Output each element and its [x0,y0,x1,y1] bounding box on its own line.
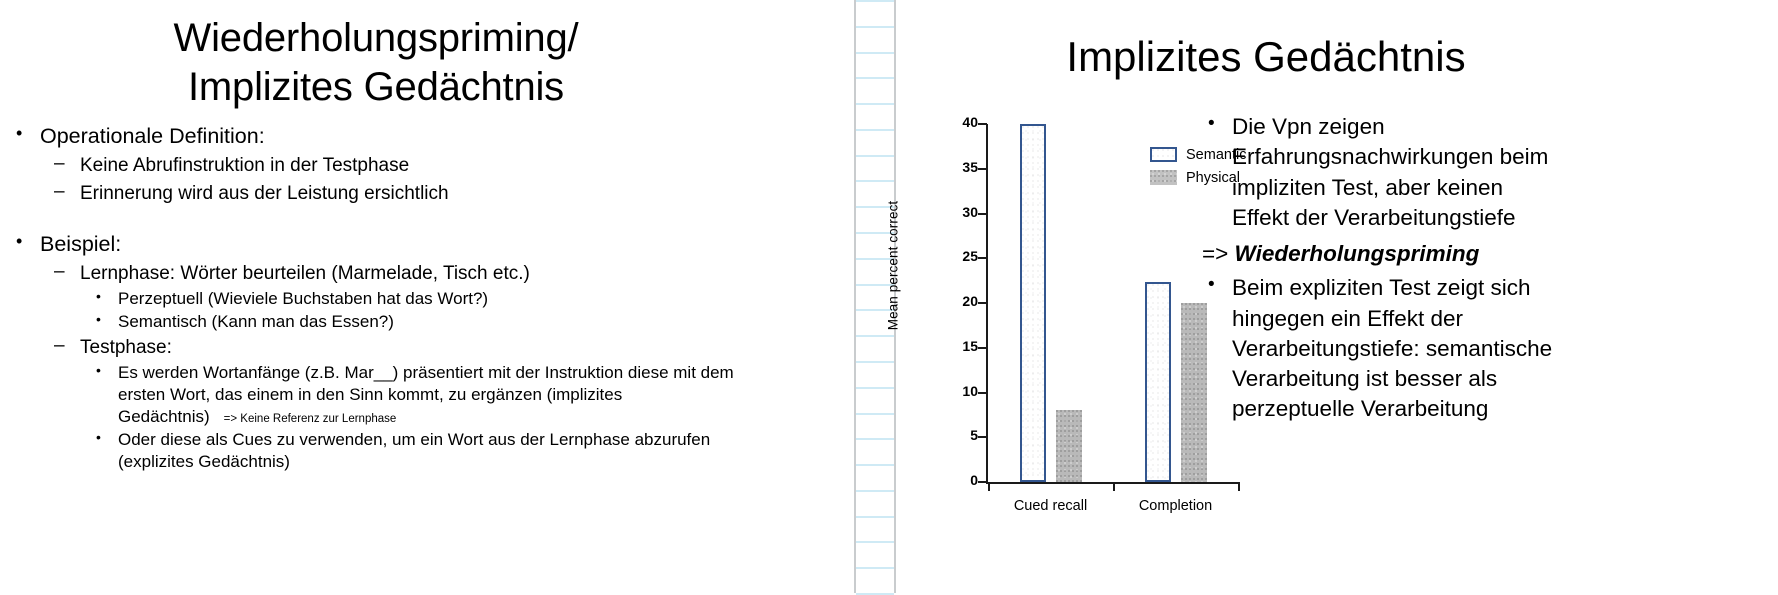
bullet-test-phase: – Testphase: • Es werden Wortanfänge (z.… [40,335,752,473]
chart-bar-physical-cued-recall [1056,410,1082,482]
chart-y-tick-label: 40 [952,114,978,130]
left-title-line-1: Wiederholungspriming/ [174,16,579,60]
bullet-spacer [0,209,752,230]
bullet-operational-definition-label: Operationale Definition: [40,124,265,148]
bullet-learning-phase-label: Lernphase: Wörter beurteilen (Marmelade,… [80,263,530,284]
chart-y-tick-label: 20 [952,293,978,309]
chart-x-tick-label: Completion [1111,498,1241,514]
legend-swatch-physical-icon [1150,170,1177,185]
chart-x-tick-mark [988,482,990,491]
chart-y-tick-mark [978,302,987,304]
bullet-dot-icon: • [96,310,101,328]
dash-marker-icon: – [54,179,65,205]
chart-x-tick-mark [1238,482,1240,491]
chart-y-tick-label: 35 [952,159,978,175]
divider-grid-rule [856,77,894,79]
chart-x-axis-line [986,482,1238,484]
divider-grid-rule [856,52,894,54]
bullet-word-stems-annotation: => Keine Referenz zur Lernphase [210,413,397,425]
divider-grid-rule [856,567,894,569]
bullet-cues-label: Oder diese als Cues zu verwenden, um ein… [118,430,710,471]
divider-grid-rule [856,26,894,28]
divider-grid-rule [856,541,894,543]
bullet-dot-icon: • [96,428,101,446]
chart-y-tick-label: 0 [952,472,978,488]
chart-y-tick-label: 5 [952,427,978,443]
chart-y-tick-mark [978,436,987,438]
right-slide-body: • Die Vpn zeigen Erfahrungsnachwirkungen… [1202,112,1562,427]
bar-chart: Mean percent correct 0510152025303540 Cu… [850,108,1240,528]
bullet-dot-icon: • [16,121,22,145]
chart-bar-semantic-completion [1145,282,1171,482]
chart-y-tick-label: 15 [952,338,978,354]
bullet-explicit-finding: • Beim expliziten Test zeigt sich hingeg… [1202,273,1562,424]
left-slide: Wiederholungspriming/ Implizites Gedächt… [0,0,752,593]
chart-y-tick-label: 30 [952,204,978,220]
right-slide-title: Implizites Gedächtnis [896,34,1636,80]
sub-list-operational: – Keine Abrufinstruktion in der Testphas… [40,153,752,207]
left-slide-body: • Operationale Definition: – Keine Abruf… [0,122,752,477]
chart-x-tick-mark [1113,482,1115,491]
chart-y-tick-mark [978,168,987,170]
conclusion-repetition-priming: => Wiederholungspriming [1202,239,1562,269]
bullet-word-stems: • Es werden Wortanfänge (z.B. Mar__) prä… [80,362,752,428]
chart-y-tick-mark [978,347,987,349]
divider-grid-rule [856,0,894,2]
bullet-dot-icon: • [1208,111,1215,137]
bullet-learning-phase: – Lernphase: Wörter beurteilen (Marmelad… [40,261,752,333]
chart-y-tick-mark [978,123,987,125]
bullet-dot-icon: • [96,361,101,379]
sub-list-example: – Lernphase: Wörter beurteilen (Marmelad… [40,261,752,473]
sub-list-test-phase: • Es werden Wortanfänge (z.B. Mar__) prä… [80,362,752,473]
bullet-perceptual: • Perzeptuell (Wieviele Buchstaben hat d… [80,288,752,310]
chart-y-tick-label: 10 [952,383,978,399]
bullet-example: • Beispiel: – Lernphase: Wörter beurteil… [0,230,752,473]
chart-y-tick-mark [978,481,987,483]
bullet-operational-definition: • Operationale Definition: – Keine Abruf… [0,122,752,206]
legend-swatch-semantic-icon [1150,147,1177,162]
bullet-test-phase-label: Testphase: [80,337,172,358]
bullet-no-retrieval-instruction: – Keine Abrufinstruktion in der Testphas… [40,153,752,179]
chart-x-tick-label: Cued recall [986,498,1116,514]
bullet-explicit-finding-label: Beim expliziten Test zeigt sich hingegen… [1232,275,1552,421]
divider-grid-rule [856,103,894,105]
bullet-semantic: • Semantisch (Kann man das Essen?) [80,311,752,333]
left-title-line-2: Implizites Gedächtnis [0,63,752,112]
bullet-dot-icon: • [96,287,101,305]
bullet-remembering-from-performance: – Erinnerung wird aus der Leistung ersic… [40,181,752,207]
bullet-implicit-finding-label: Die Vpn zeigen Erfahrungsnachwirkungen b… [1232,114,1548,230]
dash-marker-icon: – [54,259,65,285]
chart-bar-semantic-cued-recall [1020,124,1046,482]
slide-pair-canvas: Wiederholungspriming/ Implizites Gedächt… [0,0,1778,593]
right-slide: Implizites Gedächtnis Mean percent corre… [896,0,1778,593]
bullet-no-retrieval-instruction-label: Keine Abrufinstruktion in der Testphase [80,155,409,176]
chart-y-tick-mark [978,213,987,215]
left-slide-title: Wiederholungspriming/ Implizites Gedächt… [0,14,752,112]
bullet-remembering-from-performance-label: Erinnerung wird aus der Leistung ersicht… [80,183,449,204]
bullet-example-label: Beispiel: [40,232,121,256]
bullet-implicit-finding: • Die Vpn zeigen Erfahrungsnachwirkungen… [1202,112,1562,233]
left-bullet-list: • Operationale Definition: – Keine Abruf… [0,122,752,474]
arrow-prefix: => [1202,241,1235,266]
bullet-dot-icon: • [1208,272,1215,298]
sub-list-learning-phase: • Perzeptuell (Wieviele Buchstaben hat d… [80,288,752,333]
chart-y-axis-label: Mean percent correct [886,171,901,361]
chart-y-tick-mark [978,257,987,259]
dash-marker-icon: – [54,333,65,359]
chart-y-tick-mark [978,392,987,394]
chart-y-tick-label: 25 [952,248,978,264]
bullet-perceptual-label: Perzeptuell (Wieviele Buchstaben hat das… [118,289,488,308]
bullet-dot-icon: • [16,229,22,253]
bullet-semantic-label: Semantisch (Kann man das Essen?) [118,312,394,331]
dash-marker-icon: – [54,151,65,177]
conclusion-emphasis-label: Wiederholungspriming [1235,241,1480,266]
bullet-cues: • Oder diese als Cues zu verwenden, um e… [80,429,752,473]
